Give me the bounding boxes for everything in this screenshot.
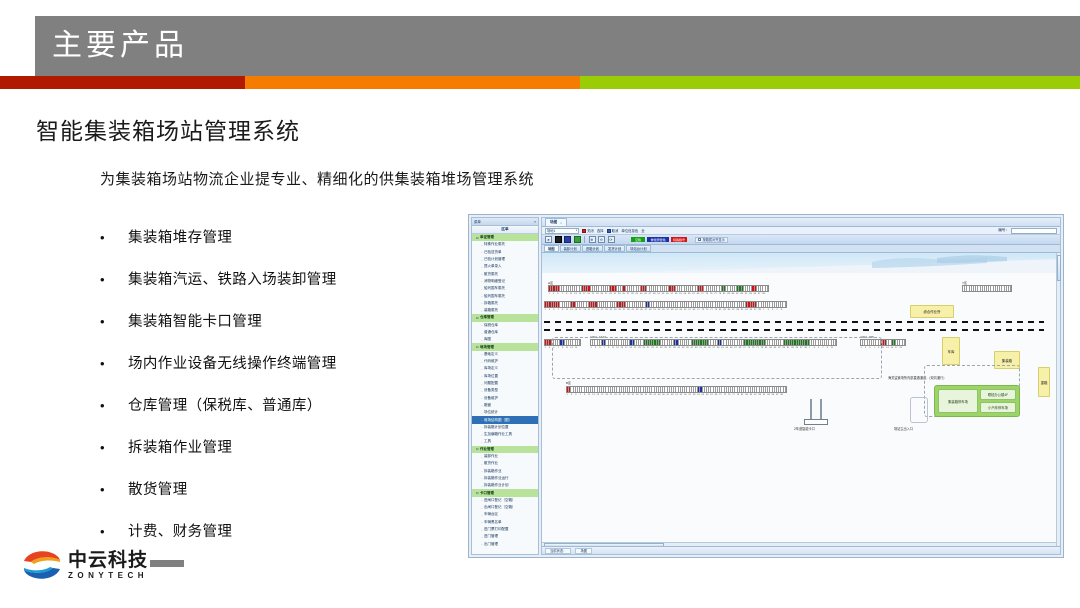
slot-number: 3 — [570, 394, 572, 396]
slot-number: 7 — [561, 293, 563, 295]
tree-item-label: 出门管理 — [484, 542, 498, 547]
checkbox-check-icon: ✓ — [698, 238, 702, 242]
tree-item[interactable]: –进门管理 — [472, 533, 538, 540]
slot-number: 29 — [605, 309, 607, 311]
logo-accent-bar — [150, 560, 184, 567]
toolbar: ➤ ⊕ ⊖ ⟳ 空箱 重箱预警箱 特殊箱号 ✓ 按箱属对齐显示 — [542, 235, 1060, 245]
tree-item[interactable]: –拆箱委托 — [472, 300, 538, 307]
subtab-场图[interactable]: 场图 — [544, 245, 559, 252]
container-slot[interactable] — [783, 302, 785, 307]
tree-body[interactable]: ⊟单证管理–特殊作业委托–已验送货单–已验计划管理–提火单录入–散货委托–消物明… — [472, 234, 538, 554]
slot-number: 51 — [657, 293, 659, 295]
list-item-label: 集装箱智能卡口管理 — [128, 312, 262, 332]
slot-number: 99 — [758, 309, 760, 311]
subtab-label: 场站台计划 — [630, 246, 646, 251]
close-swatch-icon — [582, 229, 586, 233]
legend-empty-container: 空箱 — [631, 237, 645, 242]
tree-item[interactable]: –库图 — [472, 336, 538, 343]
slot-number: 81 — [719, 309, 721, 311]
facility-car-parking[interactable]: 小汽车停车场 — [980, 402, 1016, 413]
slot-number: 85 — [728, 309, 730, 311]
tree-collapse-icon[interactable]: « — [534, 220, 536, 224]
slot-number: 43 — [636, 309, 638, 311]
slot-number: 9 — [562, 309, 564, 311]
tree-item-label: 问题配置 — [484, 381, 498, 386]
slot-number: 93 — [749, 293, 751, 295]
list-item-label: 集装箱汽运、铁路入场装卸管理 — [128, 270, 337, 290]
customs-zone-outline — [552, 337, 882, 379]
slot-number: 13 — [570, 309, 572, 311]
zonytech-emblem-icon — [22, 548, 62, 582]
tree-item[interactable]: –基础定义 — [472, 351, 538, 358]
tree-item-label: 车辆台区 — [484, 512, 498, 517]
align-by-attribute-checkbox[interactable]: ✓ 按箱属对齐显示 — [695, 237, 728, 243]
logo-name-en: ZONYTECH — [68, 572, 148, 580]
status-value: 场图 — [575, 548, 592, 554]
container-strip[interactable] — [962, 285, 1012, 292]
container-strip[interactable] — [544, 301, 787, 308]
tree-item-label: 库场位置 — [484, 374, 498, 379]
menu-row: 场地1 ▾ 关闭 选择 取消 单位信息色 全 — [542, 227, 1060, 235]
slot-number: 63 — [702, 394, 704, 396]
serial-input[interactable] — [1011, 228, 1057, 234]
logo-name-cn: 中云科技 — [68, 551, 148, 570]
slot-number: 49 — [671, 394, 673, 396]
slot-number: 91 — [745, 293, 747, 295]
container-slot[interactable] — [784, 387, 786, 392]
slot-number: 19 — [583, 309, 585, 311]
tree-item-label: 设备类型 — [484, 388, 498, 393]
tree-group-label: 卡口管理 — [480, 491, 494, 496]
slot-number: 5 — [575, 394, 577, 396]
slot-number: 59 — [671, 309, 673, 311]
tree-item[interactable]: –拆装箱作业 — [472, 468, 538, 475]
bullet-marker-icon: • — [100, 312, 128, 332]
menu-item-label: 单位信息色 — [621, 228, 638, 233]
tree-item[interactable]: –保税仓库 — [472, 322, 538, 329]
slot-number: 75 — [706, 309, 708, 311]
company-logo: 中云科技 ZONYTECH — [22, 548, 148, 582]
tree-group-label: 作业管理 — [480, 447, 494, 452]
slot-number: 97 — [758, 293, 760, 295]
slot-number: 79 — [719, 293, 721, 295]
tree-item-label: 拆装箱计划位置 — [484, 425, 509, 430]
slot-number: 93 — [745, 309, 747, 311]
zoom-in-icon[interactable]: ⊕ — [589, 236, 596, 243]
container-slot[interactable] — [903, 340, 905, 345]
vertical-scrollbar[interactable] — [1056, 253, 1060, 546]
slot-number: 31 — [632, 394, 634, 396]
slot-number: 71 — [697, 309, 699, 311]
slot-number: 83 — [723, 309, 725, 311]
tree-item[interactable]: –堆场结构图（图） — [472, 416, 538, 423]
application-screenshot: 菜单 « 区单 ⊟单证管理–特殊作业委托–已验送货单–已验计划管理–提火单录入–… — [468, 214, 1064, 558]
document-tabstrip: 场图 × — [542, 218, 1060, 227]
tree-group-仓库管理[interactable]: ⊟仓库管理 — [472, 314, 538, 321]
slot-number: 5 — [772, 309, 774, 311]
slot-number: 71 — [701, 293, 703, 295]
slot-number: 91 — [763, 394, 765, 396]
tree-item[interactable]: –场位统计 — [472, 409, 538, 416]
slot-number: 31 — [610, 309, 612, 311]
slot-number: 35 — [618, 309, 620, 311]
container-row-y — [962, 285, 1012, 292]
slot-number: 47 — [649, 293, 651, 295]
tree-group-label: 单证管理 — [480, 235, 494, 240]
slot-number: 67 — [692, 293, 694, 295]
tree-item[interactable]: –箱管 — [472, 402, 538, 409]
slot-number: 39 — [649, 394, 651, 396]
slot-number: 7 — [557, 309, 559, 311]
road-dashed-lower — [544, 329, 1044, 331]
tree-item[interactable]: –拆装箱作业运行 — [472, 475, 538, 482]
menu-item-close[interactable]: 关闭 — [582, 228, 594, 233]
tree-item[interactable]: –船列国车委托 — [472, 285, 538, 292]
subtab-发货计划[interactable]: 发货计划 — [604, 245, 625, 252]
tree-item[interactable]: –库场位置 — [472, 373, 538, 380]
subtab-装卸计划[interactable]: 装卸计划 — [560, 245, 581, 252]
slot-number: 1 — [763, 309, 765, 311]
slot-number: 3 — [548, 309, 550, 311]
tree-item[interactable]: –散货作业 — [472, 460, 538, 467]
tree-item[interactable]: –工具 — [472, 438, 538, 445]
slot-number: 93 — [767, 394, 769, 396]
container-slot[interactable] — [1009, 286, 1011, 291]
slot-number: 13 — [574, 293, 576, 295]
tree-item[interactable]: –装箱委托 — [472, 307, 538, 314]
slot-number: 65 — [684, 309, 686, 311]
refresh-icon[interactable]: ⟳ — [608, 236, 615, 243]
tree-item[interactable]: –提火单录入 — [472, 263, 538, 270]
slot-number: 95 — [772, 394, 774, 396]
slot-number: 63 — [680, 309, 682, 311]
tree-item-label: 拆装箱作业 — [484, 469, 502, 474]
slot-number: 45 — [662, 394, 664, 396]
slot-number: 39 — [627, 309, 629, 311]
skyline-graphic — [542, 253, 1060, 275]
list-item: • 散货管理 — [100, 480, 460, 500]
list-item-label: 拆装箱作业管理 — [128, 438, 232, 458]
row-label-b: B区 — [566, 381, 571, 385]
tree-item[interactable]: –代码维护 — [472, 358, 538, 365]
slot-number: 9 — [780, 309, 782, 311]
tree-item-label: 进门票打印配置 — [484, 527, 509, 532]
container-row-h — [548, 285, 769, 292]
slot-number: 73 — [706, 293, 708, 295]
list-item: • 计费、财务管理 — [100, 522, 460, 542]
slot-number: 69 — [715, 394, 717, 396]
slot-number: 11 — [566, 309, 568, 311]
facility-comprehensive-workshop[interactable]: 综合作业所 — [910, 305, 954, 318]
tree-item-label: 生加编箱作业工具 — [484, 432, 512, 437]
feature-bullet-list: • 集装箱堆存管理 • 集装箱汽运、铁路入场装卸管理 • 集装箱智能卡口管理 •… — [100, 228, 460, 564]
slot-number: 1 — [544, 309, 546, 311]
tree-item[interactable]: –车辆台区 — [472, 511, 538, 518]
facility-joint-inspection-building[interactable]: 联检办公楼4F — [980, 389, 1016, 400]
tree-item-label: 保税仓库 — [484, 323, 498, 328]
tree-item[interactable]: –已验送货单 — [472, 249, 538, 256]
slot-number: 63 — [684, 293, 686, 295]
menu-item-select[interactable]: 选择 — [597, 228, 604, 233]
pointer-tool-icon[interactable]: ➤ — [545, 236, 552, 243]
chevron-down-icon: ▾ — [576, 229, 577, 232]
slot-number: 83 — [745, 394, 747, 396]
slot-number: 59 — [693, 394, 695, 396]
site-select-value: 场地1 — [547, 228, 555, 233]
facility-container-parking[interactable]: 集装箱停车场 — [938, 389, 978, 413]
tree-item-label: 拆箱委托 — [484, 301, 498, 306]
bullet-marker-icon: • — [100, 480, 128, 500]
slot-number: 45 — [640, 309, 642, 311]
tree-item[interactable]: –库场定义 — [472, 365, 538, 372]
tree-item[interactable]: –进门票打印配置 — [472, 526, 538, 533]
slot-number: 99 — [780, 394, 782, 396]
menu-item-label: 全 — [641, 228, 644, 233]
slot-number: 15 — [891, 347, 893, 349]
list-item-label: 仓库管理（保税库、普通库） — [128, 396, 322, 416]
tree-group-单证管理[interactable]: ⊟单证管理 — [472, 234, 538, 241]
slot-number: 77 — [714, 293, 716, 295]
slot-number: 85 — [750, 394, 752, 396]
slot-number: 89 — [741, 293, 743, 295]
slot-number: 81 — [723, 293, 725, 295]
tree-item[interactable]: –特殊作业委托 — [472, 241, 538, 248]
slot-number: 87 — [732, 309, 734, 311]
menu-item-label: 选择 — [597, 228, 604, 233]
slot-number: 19 — [587, 293, 589, 295]
subtab-label: 发货计划 — [608, 246, 621, 251]
tree-item[interactable]: –已验计划管理 — [472, 256, 538, 263]
gate-booth[interactable] — [804, 419, 828, 425]
menu-item-cancel[interactable]: 取消 — [607, 228, 619, 233]
slot-number: 35 — [640, 394, 642, 396]
tab-site-map[interactable]: 场图 × — [545, 218, 567, 226]
tree-item[interactable]: –拆装箱作业计划 — [472, 482, 538, 489]
tree-item[interactable]: –设备维护 — [472, 395, 538, 402]
slot-number: 27 — [601, 309, 603, 311]
subtab-进箱计划[interactable]: 进箱计划 — [582, 245, 603, 252]
bullet-marker-icon: • — [100, 438, 128, 458]
tree-item-label: 船列国车委托 — [484, 286, 505, 291]
slot-number: 51 — [675, 394, 677, 396]
slot-number: 91 — [741, 309, 743, 311]
accent-rule-red — [0, 76, 245, 89]
tree-item-label: 出闸口登记（空箱） — [484, 505, 516, 510]
tree-header-label: 区单 — [501, 227, 508, 232]
slot-number: 31 — [614, 293, 616, 295]
tree-item[interactable]: –散货委托 — [472, 270, 538, 277]
list-item: • 拆装箱作业管理 — [100, 438, 460, 458]
slot-number: 41 — [632, 309, 634, 311]
slot-number: 79 — [715, 309, 717, 311]
slot-number: 37 — [627, 293, 629, 295]
container-slot[interactable] — [766, 286, 768, 291]
slot-number: 1 — [544, 347, 546, 349]
bullet-marker-icon: • — [100, 522, 128, 542]
site-select[interactable]: 场地1 ▾ — [545, 228, 579, 234]
tree-item[interactable]: –设备类型 — [472, 387, 538, 394]
slot-number: 27 — [605, 293, 607, 295]
slot-number: 61 — [675, 309, 677, 311]
slot-number: 5 — [553, 309, 555, 311]
slot-number: 81 — [741, 394, 743, 396]
slot-number: 3 — [548, 347, 550, 349]
tree-item-label: 箱管 — [484, 403, 491, 408]
slot-number: 47 — [667, 394, 669, 396]
slot-number: 7 — [579, 394, 581, 396]
slot-number: 73 — [724, 394, 726, 396]
slot-number: 3 — [767, 309, 769, 311]
tree-item[interactable]: –消物明细登记 — [472, 278, 538, 285]
slot-number: 13 — [592, 394, 594, 396]
slot-number: 23 — [592, 309, 594, 311]
slot-number: 59 — [675, 293, 677, 295]
facility-garage[interactable]: 车库 — [942, 337, 960, 365]
tree-group-卡口管理[interactable]: ⊟卡口管理 — [472, 489, 538, 496]
tree-panel-caption: 菜单 « — [472, 218, 538, 226]
slot-number: 61 — [679, 293, 681, 295]
container-strip[interactable] — [548, 285, 769, 292]
tree-item-label: 提火单录入 — [484, 264, 502, 269]
tree-item-label: 特殊作业委托 — [484, 242, 505, 247]
list-item-label: 散货管理 — [128, 480, 188, 500]
subtab-label: 进箱计划 — [586, 246, 599, 251]
tree-group-作业管理[interactable]: ⊟作业管理 — [472, 446, 538, 453]
menu-item-label: 取消 — [612, 228, 619, 233]
toolbar-separator — [584, 236, 585, 243]
list-item-label: 计费、财务管理 — [128, 522, 232, 542]
slide-root: 主要产品 智能集装箱场站管理系统 为集装箱场站物流企业提专业、精细化的供集装箱堆… — [0, 0, 1080, 608]
slot-number: 69 — [693, 309, 695, 311]
grid-tool-icon[interactable] — [574, 236, 581, 243]
close-icon[interactable]: × — [560, 221, 562, 225]
tree-item-label: 装箱委托 — [484, 308, 498, 313]
tree-item[interactable]: –出闸口登记（空箱） — [472, 504, 538, 511]
slot-number: 11 — [570, 293, 572, 295]
tree-item[interactable]: –进闸口登记（空箱） — [472, 497, 538, 504]
container-row-4 — [566, 386, 787, 393]
slot-number: 77 — [710, 309, 712, 311]
tree-item-label: 进闸口登记（空箱） — [484, 498, 516, 503]
slot-number: 53 — [680, 394, 682, 396]
slot-number: 21 — [610, 394, 612, 396]
header-band — [35, 16, 1080, 76]
tree-item[interactable]: –拆装箱计划位置 — [472, 424, 538, 431]
slot-number: 11 — [588, 394, 590, 396]
slot-number: 27 — [623, 394, 625, 396]
tree-item[interactable]: –生加编箱作业工具 — [472, 431, 538, 438]
zoom-out-icon[interactable]: ⊖ — [598, 236, 605, 243]
slot-number: 67 — [710, 394, 712, 396]
slot-number: 25 — [601, 293, 603, 295]
cancel-swatch-icon — [607, 229, 611, 233]
tree-item-label: 已验送货单 — [484, 250, 502, 255]
main-entrance-outline — [910, 397, 928, 423]
gate-label-main: 场站主出入口 — [894, 426, 913, 431]
slot-number: 19 — [899, 347, 901, 349]
tree-item-label: 普通仓库 — [484, 330, 498, 335]
bullet-marker-icon: • — [100, 354, 128, 374]
tree-item-label: 库场定义 — [484, 366, 498, 371]
slot-number: 37 — [623, 309, 625, 311]
tree-group-label: 堆场管理 — [480, 345, 494, 350]
tree-item[interactable]: –车辆黑名单 — [472, 519, 538, 526]
tree-item[interactable]: –船列国车委托 — [472, 292, 538, 299]
slot-number: 25 — [597, 309, 599, 311]
serial-label: 编号： — [998, 228, 1009, 233]
list-item: • 场内作业设备无线操作终端管理 — [100, 354, 460, 374]
tree-item-label: 代码维护 — [484, 359, 498, 364]
menu-right-group: 编号： — [998, 228, 1057, 234]
slot-number: 55 — [666, 293, 668, 295]
slot-number: 39 — [631, 293, 633, 295]
slot-number: 71 — [719, 394, 721, 396]
work-area: 场图 × 场地1 ▾ 关闭 选择 取消 — [541, 217, 1061, 555]
bullet-marker-icon: • — [100, 228, 128, 248]
tree-item[interactable]: –普通仓库 — [472, 329, 538, 336]
slot-number: 25 — [619, 394, 621, 396]
slot-number: 77 — [732, 394, 734, 396]
slot-number: 15 — [579, 293, 581, 295]
save-icon[interactable] — [564, 236, 571, 243]
tree-item-label: 基础定义 — [484, 352, 498, 357]
tree-item[interactable]: –出门管理 — [472, 540, 538, 547]
road-dashed-upper — [544, 321, 1044, 323]
slot-number: 43 — [640, 293, 642, 295]
slot-number: 69 — [697, 293, 699, 295]
slot-number: 95 — [750, 309, 752, 311]
status-bar: 当前状态： 场图 — [542, 546, 1060, 554]
tree-group-堆场管理[interactable]: ⊟堆场管理 — [472, 343, 538, 350]
sub-tabstrip[interactable]: 场图装卸计划进箱计划发货计划场站台计划 — [542, 245, 1060, 253]
slot-number: 89 — [737, 309, 739, 311]
menu-item-all[interactable]: 全 — [641, 228, 644, 233]
tree-header: 区单 — [472, 226, 538, 234]
slot-number: 19 — [605, 394, 607, 396]
slot-number: 67 — [688, 309, 690, 311]
slot-number: 29 — [609, 293, 611, 295]
tree-item-label: 散货作业 — [484, 461, 498, 466]
subtab-场站台计划[interactable]: 场站台计划 — [626, 245, 650, 252]
block-tool-icon[interactable] — [555, 236, 562, 243]
subtab-label: 装卸计划 — [564, 246, 577, 251]
container-row-2-numbers: 1357911131517192123252729313335373941434… — [544, 308, 785, 311]
container-strip[interactable] — [566, 386, 787, 393]
slot-number: 83 — [727, 293, 729, 295]
menu-item-unit-color[interactable]: 单位信息色 — [621, 228, 638, 233]
slot-number: 75 — [710, 293, 712, 295]
slot-number: 65 — [706, 394, 708, 396]
slot-number: 97 — [754, 309, 756, 311]
slot-number: 37 — [645, 394, 647, 396]
facility-heavy-container[interactable]: 重箱 — [1038, 367, 1050, 397]
slot-number: 49 — [653, 293, 655, 295]
menu-item-label: 关闭 — [587, 228, 594, 233]
vertical-scrollbar-thumb[interactable] — [1057, 255, 1061, 281]
yard-map-canvas[interactable]: H区 1357911131517192123252729313335373941… — [542, 253, 1060, 546]
list-item: • 仓库管理（保税库、普通库） — [100, 396, 460, 416]
slot-number: 53 — [658, 309, 660, 311]
slot-number: 73 — [702, 309, 704, 311]
tree-item-label: 散货委托 — [484, 272, 498, 277]
slot-number: 95 — [754, 293, 756, 295]
tree-item-label: 已验计划管理 — [484, 257, 505, 262]
tree-item[interactable]: –装卸作业 — [472, 453, 538, 460]
list-item-label: 场内作业设备无线操作终端管理 — [128, 354, 337, 374]
tree-item[interactable]: –问题配置 — [472, 380, 538, 387]
slot-number: 87 — [736, 293, 738, 295]
slot-number: 23 — [596, 293, 598, 295]
